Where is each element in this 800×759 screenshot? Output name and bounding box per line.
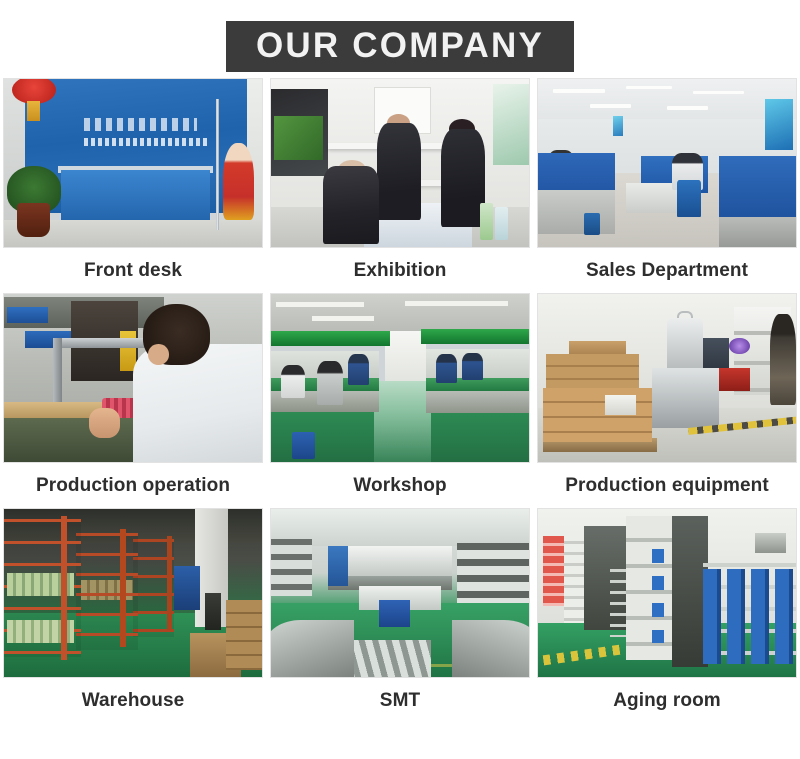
title-banner: OUR COMPANY	[226, 21, 574, 72]
caption-warehouse: Warehouse	[3, 690, 263, 712]
gallery-row-3-captions: Warehouse SMT Aging room	[3, 678, 797, 723]
photo-gallery-grid: Front desk Exhibition Sales Department	[0, 78, 800, 723]
gallery-row-1: Front desk Exhibition Sales Department	[3, 78, 797, 293]
photo-exhibition[interactable]	[270, 78, 530, 248]
page-title-area: OUR COMPANY	[0, 0, 800, 78]
caption-production-equipment: Production equipment	[537, 475, 797, 497]
gallery-row-1-photos	[3, 78, 797, 248]
gallery-row-3-photos	[3, 508, 797, 678]
photo-production-operation[interactable]	[3, 293, 263, 463]
caption-front-desk: Front desk	[3, 260, 263, 282]
photo-smt[interactable]	[270, 508, 530, 678]
company-profile-page: OUR COMPANY	[0, 0, 800, 759]
signage-chinese	[84, 118, 198, 131]
gallery-row-3: Warehouse SMT Aging room	[3, 508, 797, 723]
caption-sales-department: Sales Department	[537, 260, 797, 282]
battery-rack-icon	[703, 569, 796, 663]
photo-workshop[interactable]	[270, 293, 530, 463]
gallery-row-1-captions: Front desk Exhibition Sales Department	[3, 248, 797, 293]
caption-workshop: Workshop	[270, 475, 530, 497]
cardboard-boxes-icon	[546, 354, 639, 391]
caption-smt: SMT	[270, 690, 530, 712]
gallery-row-2-photos	[3, 293, 797, 463]
gallery-row-2-captions: Production operation Workshop Production…	[3, 463, 797, 508]
caption-exhibition: Exhibition	[270, 260, 530, 282]
photo-production-equipment[interactable]	[537, 293, 797, 463]
photo-aging-room[interactable]	[537, 508, 797, 678]
gallery-row-2: Production operation Workshop Production…	[3, 293, 797, 508]
photo-sales-department[interactable]	[537, 78, 797, 248]
caption-aging-room: Aging room	[537, 690, 797, 712]
page-title: OUR COMPANY	[256, 26, 544, 65]
photo-warehouse[interactable]	[3, 508, 263, 678]
caption-production-operation: Production operation	[3, 475, 263, 497]
signage-english	[84, 138, 208, 146]
photo-front-desk[interactable]	[3, 78, 263, 248]
figurine-icon	[223, 143, 254, 220]
